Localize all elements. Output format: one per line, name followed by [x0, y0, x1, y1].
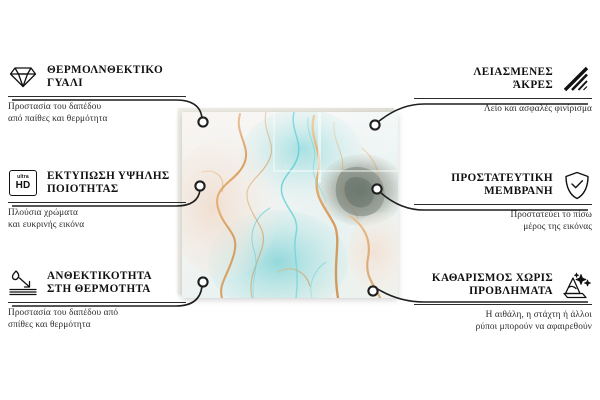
ultra-hd-label-bottom: HD [16, 181, 31, 191]
feature-description: Προστατεύει το πίσω μέρος της εικόνας [414, 210, 592, 233]
feature-high-quality-print: ultra HD ΕΚΤΥΠΩΣΗ ΥΨΗΛΗΣ ΠΟΙΟΤΗΤΑΣ Πλούσ… [8, 168, 186, 231]
feature-title: ΠΡΟΣΤΑΤΕΥΤΙΚΗ ΜΕΜΒΡΑΝΗ [414, 172, 553, 199]
feature-title: ΚΑΘΑΡΙΣΜΟΣ ΧΩΡΙΣ ΠΡΟΒΛΗΜΑΤΑ [414, 272, 553, 299]
feature-divider [414, 304, 592, 305]
shield-check-icon [562, 170, 592, 200]
feature-header: ΠΡΟΣΤΑΤΕΥΤΙΚΗ ΜΕΜΒΡΑΝΗ [414, 170, 592, 200]
connector-node [370, 120, 379, 129]
heat-resistance-icon [8, 268, 38, 298]
feature-description: Προστασία του δαπέδου από παίθες και θερ… [8, 102, 186, 125]
feature-header: ΛΕΙΑΣΜΕΝΕΣ ΆΚΡΕΣ [414, 64, 592, 94]
connector-node [368, 286, 377, 295]
connector-node [198, 117, 207, 126]
feature-description: Λείο και ασφαλές φινίρισμα [414, 104, 592, 116]
feature-description: Πλούσια χρώματα και ευκρινής εικόνα [8, 208, 186, 231]
feature-divider [8, 202, 186, 203]
easy-clean-icon [562, 270, 592, 300]
feature-divider [8, 96, 186, 97]
feature-header: ΚΑΘΑΡΙΣΜΟΣ ΧΩΡΙΣ ΠΡΟΒΛΗΜΑΤΑ [414, 270, 592, 300]
feature-easy-cleaning: ΚΑΘΑΡΙΣΜΟΣ ΧΩΡΙΣ ΠΡΟΒΛΗΜΑΤΑ Η αιθάλη, η … [414, 270, 592, 333]
feature-header: ΘΕΡΜΟΛΝΘΕΚΤΙΚΟ ΓΥΑΛΙ [8, 62, 186, 92]
feature-protective-membrane: ΠΡΟΣΤΑΤΕΥΤΙΚΗ ΜΕΜΒΡΑΝΗ Προστατεύει το πί… [414, 170, 592, 233]
connector-node [195, 181, 204, 190]
feature-header: ultra HD ΕΚΤΥΠΩΣΗ ΥΨΗΛΗΣ ΠΟΙΟΤΗΤΑΣ [8, 168, 186, 198]
feature-polished-edges: ΛΕΙΑΣΜΕΝΕΣ ΆΚΡΕΣ Λείο και ασφαλές φινίρι… [414, 64, 592, 116]
diamond-icon [8, 62, 38, 92]
feature-divider [414, 204, 592, 205]
feature-title: ΑΝΘΕΚΤΙΚΟΤΗΤΑ ΣΤΗ ΘΕΡΜΟΤΗΤΑ [47, 270, 186, 297]
feature-title: ΘΕΡΜΟΛΝΘΕΚΤΙΚΟ ΓΥΑΛΙ [47, 64, 186, 91]
connector-node [372, 184, 381, 193]
polished-edges-icon [562, 64, 592, 94]
connector-node [198, 277, 207, 286]
feature-divider [8, 302, 186, 303]
feature-heat-resistant-glass: ΘΕΡΜΟΛΝΘΕΚΤΙΚΟ ΓΥΑΛΙ Προστασία του δαπέδ… [8, 62, 186, 125]
feature-description: Προστασία του δαπέδου από σπίθες και θερ… [8, 308, 186, 331]
feature-heat-durability: ΑΝΘΕΚΤΙΚΟΤΗΤΑ ΣΤΗ ΘΕΡΜΟΤΗΤΑ Προστασία το… [8, 268, 186, 331]
infographic-stage: ΘΕΡΜΟΛΝΘΕΚΤΙΚΟ ΓΥΑΛΙ Προστασία του δαπέδ… [0, 0, 600, 400]
feature-title: ΕΚΤΥΠΩΣΗ ΥΨΗΛΗΣ ΠΟΙΟΤΗΤΑΣ [47, 170, 186, 197]
feature-description: Η αιθάλη, η στάχτη ή άλλοι ρύποι μπορούν… [414, 310, 592, 333]
feature-divider [414, 98, 592, 99]
feature-header: ΑΝΘΕΚΤΙΚΟΤΗΤΑ ΣΤΗ ΘΕΡΜΟΤΗΤΑ [8, 268, 186, 298]
ultra-hd-icon: ultra HD [8, 168, 38, 198]
feature-title: ΛΕΙΑΣΜΕΝΕΣ ΆΚΡΕΣ [414, 66, 553, 93]
